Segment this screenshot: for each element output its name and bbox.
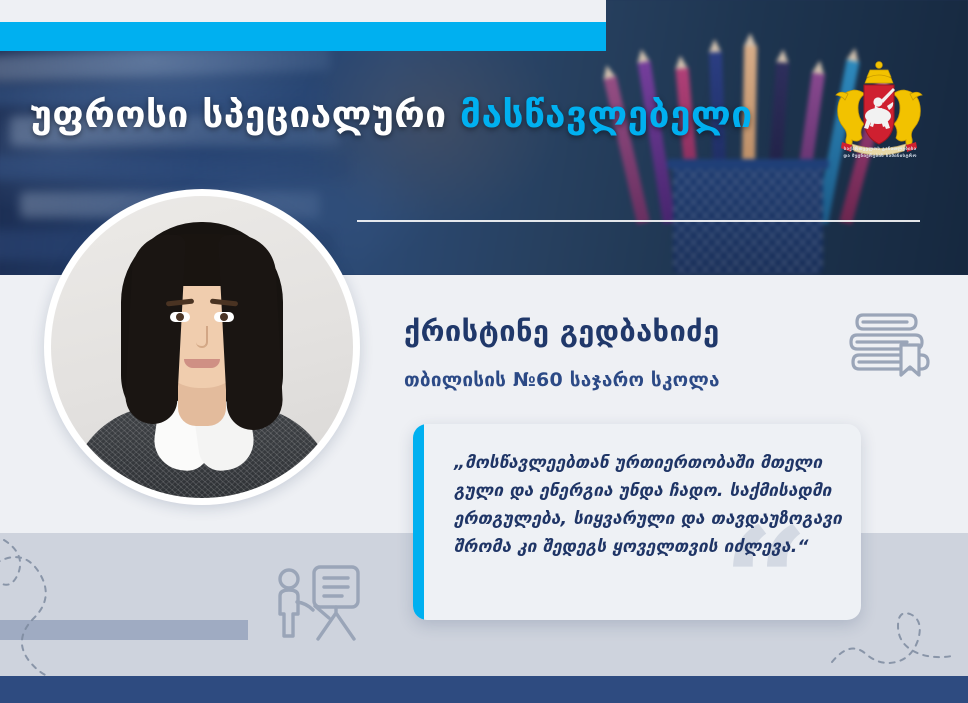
avatar xyxy=(44,189,360,505)
avatar-photo xyxy=(51,196,353,498)
page-title-plain: უფროსი სპეციალური xyxy=(30,93,447,136)
teacher-at-board-icon xyxy=(272,562,372,650)
emblem-caption: საქართველოს განათლებისა და მეცნიერების ს… xyxy=(818,146,942,160)
quote-accent-bar xyxy=(413,424,424,620)
poster-canvas: უფროსი სპეციალური მასწავლებელი xyxy=(0,0,968,703)
dashed-curve-decoration-left xyxy=(0,534,246,694)
cyan-accent-bar xyxy=(0,22,606,51)
quote-text: „მოსწავლეებთან ურთიერთობაში მთელი გული დ… xyxy=(454,450,846,561)
header-divider-rule xyxy=(357,220,920,222)
emblem-caption-line1: საქართველოს განათლებისა xyxy=(818,146,942,153)
teacher-name: ქრისტინე გედბახიძე xyxy=(404,314,720,348)
page-title-accent: მასწავლებელი xyxy=(460,93,753,136)
teacher-school: თბილისის №60 საჯარო სკოლა xyxy=(404,369,720,391)
header-top-sliver xyxy=(0,0,606,22)
page-title: უფროსი სპეციალური მასწავლებელი xyxy=(30,93,753,136)
books-stack-icon xyxy=(845,303,939,387)
quote-card: “ „მოსწავლეებთან ურთიერთობაში მთელი გული… xyxy=(413,424,861,620)
emblem-caption-line2: და მეცნიერების სამინისტრო xyxy=(818,153,942,160)
footer-navy-bar xyxy=(0,676,968,703)
